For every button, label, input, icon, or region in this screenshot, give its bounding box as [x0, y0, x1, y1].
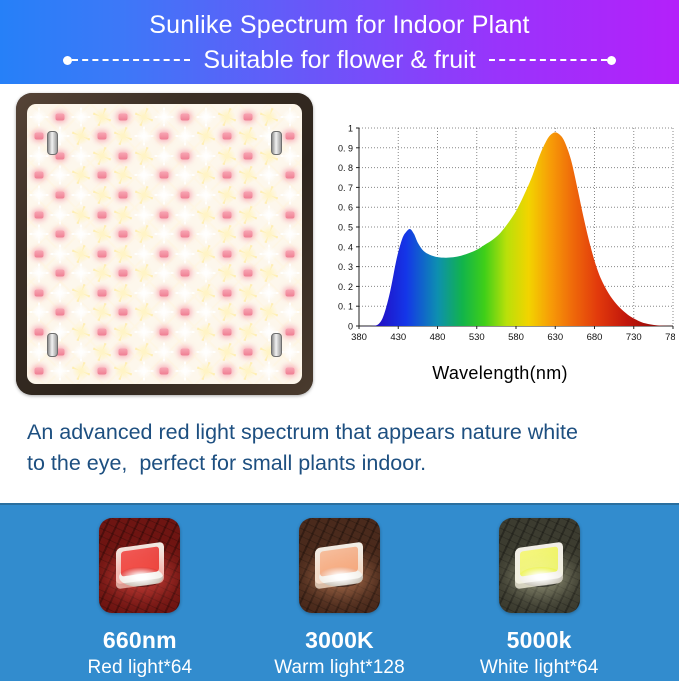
led-diode-warm	[217, 224, 238, 244]
led-diode-red	[175, 303, 196, 323]
led-diode-red	[217, 166, 238, 186]
led-diode-warm	[237, 205, 258, 225]
led-diode-white	[258, 361, 279, 381]
led-diode-warm	[112, 205, 133, 225]
led-diode-white	[71, 107, 92, 127]
y-tick-label: 0. 6	[338, 203, 353, 213]
led-diode-red	[92, 166, 113, 186]
led-diode-warm	[133, 342, 154, 362]
led-chip-white-icon	[499, 518, 580, 613]
led-diode-warm	[71, 283, 92, 303]
led-chip-list: 660nm Red light*64 3000K Warm light*128	[0, 518, 679, 678]
bullet-dot-left-icon	[63, 56, 72, 65]
led-diode-warm	[237, 127, 258, 147]
led-diode-white	[133, 361, 154, 381]
led-diode-red	[154, 166, 175, 186]
led-diode-warm	[217, 107, 238, 127]
led-diode-warm	[71, 361, 92, 381]
led-diode-red	[92, 127, 113, 147]
led-diode-warm	[237, 322, 258, 342]
led-chip-warm-icon	[299, 518, 380, 613]
led-chip-item-warm: 3000K Warm light*128	[254, 518, 424, 679]
led-diode-red	[50, 264, 71, 284]
led-spec-band: 660nm Red light*64 3000K Warm light*128	[0, 503, 679, 681]
led-diode-white	[29, 224, 50, 244]
led-chip-subtitle: Warm light*128	[254, 657, 424, 679]
led-diode-warm	[71, 127, 92, 147]
led-diode-warm	[217, 264, 238, 284]
led-diode-warm	[92, 107, 113, 127]
led-diode-white	[279, 342, 300, 362]
led-diode-red	[112, 342, 133, 362]
product-infographic: Sunlike Spectrum for Indoor Plant Suitab…	[0, 0, 679, 679]
led-diode-red	[92, 205, 113, 225]
led-diode-red	[175, 224, 196, 244]
led-diode-warm	[112, 361, 133, 381]
led-diode-white	[175, 205, 196, 225]
led-diode-white	[279, 185, 300, 205]
led-diode-white	[175, 361, 196, 381]
dashed-line-left-icon	[72, 59, 190, 61]
led-chip-subtitle: White light*64	[454, 657, 624, 679]
product-description: An advanced red light spectrum that appe…	[27, 417, 652, 479]
led-diode-red	[112, 146, 133, 166]
led-diode-red	[279, 244, 300, 264]
led-diode-red	[92, 322, 113, 342]
led-chip-title: 3000K	[254, 627, 424, 654]
led-diode-red	[237, 224, 258, 244]
led-diode-warm	[258, 224, 279, 244]
led-diode-warm	[71, 322, 92, 342]
led-diode-red	[237, 303, 258, 323]
led-diode-red	[50, 224, 71, 244]
led-diode-warm	[112, 166, 133, 186]
mounting-screw-top-right-icon	[271, 131, 282, 155]
led-diode-warm	[196, 283, 217, 303]
x-axis-label: Wavelength(nm)	[325, 363, 675, 384]
led-diode-red	[92, 244, 113, 264]
led-chip-title: 660nm	[55, 627, 225, 654]
led-diode-red	[175, 342, 196, 362]
led-diode-warm	[133, 264, 154, 284]
led-diode-red	[112, 107, 133, 127]
led-diode-red	[237, 107, 258, 127]
led-diode-warm	[112, 127, 133, 147]
led-diode-white	[71, 224, 92, 244]
led-diode-warm	[217, 303, 238, 323]
page-title: Sunlike Spectrum for Indoor Plant	[0, 11, 679, 40]
led-diode-red	[29, 283, 50, 303]
y-tick-label: 0. 4	[338, 242, 353, 252]
led-diode-warm	[92, 146, 113, 166]
led-diode-red	[29, 361, 50, 381]
y-tick-label: 0. 2	[338, 282, 353, 292]
led-chip-item-red: 660nm Red light*64	[55, 518, 225, 679]
led-diode-red	[217, 283, 238, 303]
led-diode-red	[154, 244, 175, 264]
led-diode-warm	[133, 107, 154, 127]
led-diode-white	[175, 244, 196, 264]
led-diode-white	[133, 127, 154, 147]
led-diode-warm	[92, 264, 113, 284]
led-diode-white	[71, 303, 92, 323]
led-diode-white	[133, 322, 154, 342]
led-diode-white	[258, 244, 279, 264]
y-tick-label: 0. 9	[338, 143, 353, 153]
led-diode-white	[196, 107, 217, 127]
led-diode-red	[112, 303, 133, 323]
y-tick-label: 1	[348, 124, 353, 134]
x-tick-label: 730	[626, 332, 642, 343]
y-tick-label: 0	[348, 322, 353, 332]
x-tick-label: 580	[508, 332, 524, 343]
led-diode-red	[217, 127, 238, 147]
led-diode-white	[71, 146, 92, 166]
bullet-dot-right-icon	[607, 56, 616, 65]
led-diode-red	[112, 224, 133, 244]
led-chip-title: 5000k	[454, 627, 624, 654]
led-diode-white	[50, 283, 71, 303]
led-diode-white	[279, 146, 300, 166]
led-diode-white	[29, 303, 50, 323]
led-diode-red	[217, 244, 238, 264]
led-diode-white	[258, 205, 279, 225]
x-tick-label: 680	[587, 332, 603, 343]
dashed-line-right-icon	[489, 59, 607, 61]
led-diode-red	[217, 205, 238, 225]
led-diode-red	[175, 264, 196, 284]
led-diode-white	[279, 107, 300, 127]
led-diode-red	[50, 107, 71, 127]
led-diode-white	[154, 264, 175, 284]
led-diode-warm	[71, 244, 92, 264]
spectrum-chart: 00. 10. 20. 30. 40. 50. 60. 70. 80. 91 3…	[325, 118, 675, 398]
led-grid	[27, 104, 302, 384]
led-diode-red	[154, 283, 175, 303]
panel-face	[27, 104, 302, 384]
led-flare	[319, 567, 363, 587]
led-diode-red	[237, 146, 258, 166]
led-diode-red	[29, 244, 50, 264]
mounting-screw-bottom-right-icon	[271, 333, 282, 357]
led-diode-red	[92, 361, 113, 381]
mounting-screw-bottom-left-icon	[47, 333, 58, 357]
led-diode-warm	[258, 303, 279, 323]
description-line-2: to the eye, perfect for small plants ind…	[27, 448, 652, 479]
led-diode-red	[175, 107, 196, 127]
led-diode-white	[50, 166, 71, 186]
led-diode-warm	[237, 361, 258, 381]
led-diode-warm	[133, 224, 154, 244]
led-diode-red	[279, 283, 300, 303]
mounting-screw-top-left-icon	[47, 131, 58, 155]
led-diode-white	[154, 342, 175, 362]
led-diode-red	[237, 342, 258, 362]
led-diode-warm	[258, 185, 279, 205]
led-diode-warm	[92, 342, 113, 362]
led-diode-warm	[112, 283, 133, 303]
right-dash-decoration	[489, 56, 616, 65]
led-diode-white	[175, 127, 196, 147]
led-diode-white	[133, 166, 154, 186]
led-diode-warm	[112, 322, 133, 342]
led-diode-white	[133, 244, 154, 264]
led-diode-red	[217, 322, 238, 342]
led-diode-white	[175, 283, 196, 303]
led-diode-warm	[112, 244, 133, 264]
led-flare	[119, 567, 163, 587]
led-diode-white	[154, 224, 175, 244]
led-panel-photo	[16, 93, 313, 395]
led-diode-white	[175, 166, 196, 186]
led-diode-red	[154, 322, 175, 342]
led-diode-white	[133, 205, 154, 225]
x-tick-label: 780	[665, 332, 675, 343]
led-diode-warm	[71, 166, 92, 186]
y-tick-label: 0. 7	[338, 183, 353, 193]
led-diode-warm	[92, 303, 113, 323]
led-diode-red	[175, 146, 196, 166]
left-dash-decoration	[63, 56, 190, 65]
led-diode-white	[279, 224, 300, 244]
x-tick-label: 630	[547, 332, 563, 343]
led-diode-red	[112, 185, 133, 205]
led-diode-red	[279, 205, 300, 225]
led-diode-warm	[196, 127, 217, 147]
header-banner: Sunlike Spectrum for Indoor Plant Suitab…	[0, 0, 679, 84]
led-diode-warm	[133, 185, 154, 205]
led-diode-red	[279, 166, 300, 186]
y-tick-label: 0. 3	[338, 262, 353, 272]
led-diode-red	[237, 185, 258, 205]
led-diode-red	[154, 127, 175, 147]
led-diode-white	[50, 244, 71, 264]
led-diode-warm	[196, 205, 217, 225]
led-diode-red	[175, 185, 196, 205]
led-diode-warm	[217, 185, 238, 205]
y-axis-tick-labels: 00. 10. 20. 30. 40. 50. 60. 70. 80. 91	[338, 124, 353, 332]
led-chip-item-white: 5000k White light*64	[454, 518, 624, 679]
led-diode-white	[71, 185, 92, 205]
led-diode-warm	[133, 303, 154, 323]
led-diode-warm	[258, 107, 279, 127]
led-diode-red	[154, 205, 175, 225]
led-diode-red	[279, 361, 300, 381]
led-chip-red-icon	[99, 518, 180, 613]
led-diode-white	[154, 185, 175, 205]
led-diode-warm	[217, 146, 238, 166]
led-diode-warm	[196, 244, 217, 264]
led-diode-warm	[92, 224, 113, 244]
led-diode-warm	[92, 185, 113, 205]
led-diode-white	[50, 361, 71, 381]
x-axis-tick-labels: 380430480530580630680730780	[351, 332, 675, 343]
led-diode-white	[279, 303, 300, 323]
led-diode-warm	[258, 264, 279, 284]
led-diode-warm	[133, 146, 154, 166]
led-flare	[519, 567, 563, 587]
led-diode-red	[29, 166, 50, 186]
led-diode-white	[154, 107, 175, 127]
led-diode-warm	[217, 342, 238, 362]
header-subtitle-row: Suitable for flower & fruit	[0, 43, 679, 77]
led-diode-red	[29, 205, 50, 225]
led-diode-warm	[71, 205, 92, 225]
led-diode-red	[92, 283, 113, 303]
led-diode-red	[237, 264, 258, 284]
led-diode-warm	[196, 322, 217, 342]
led-diode-white	[279, 264, 300, 284]
led-diode-white	[133, 283, 154, 303]
y-tick-label: 0. 8	[338, 163, 353, 173]
led-diode-warm	[237, 283, 258, 303]
led-diode-white	[258, 283, 279, 303]
led-diode-white	[196, 185, 217, 205]
led-diode-white	[29, 264, 50, 284]
led-diode-white	[71, 264, 92, 284]
led-diode-warm	[196, 361, 217, 381]
led-diode-red	[50, 303, 71, 323]
led-diode-white	[196, 342, 217, 362]
led-diode-white	[50, 205, 71, 225]
led-chip-subtitle: Red light*64	[55, 657, 225, 679]
led-diode-red	[279, 127, 300, 147]
led-diode-warm	[196, 166, 217, 186]
led-diode-white	[29, 107, 50, 127]
led-diode-warm	[237, 244, 258, 264]
led-diode-white	[196, 224, 217, 244]
led-diode-white	[196, 303, 217, 323]
y-tick-label: 0. 1	[338, 302, 353, 312]
led-diode-white	[175, 322, 196, 342]
header-subtitle: Suitable for flower & fruit	[190, 46, 488, 75]
led-diode-white	[258, 166, 279, 186]
led-diode-white	[154, 146, 175, 166]
led-diode-white	[29, 185, 50, 205]
led-diode-red	[154, 361, 175, 381]
led-diode-red	[50, 185, 71, 205]
led-diode-white	[196, 264, 217, 284]
led-diode-red	[279, 322, 300, 342]
led-diode-white	[154, 303, 175, 323]
description-line-1: An advanced red light spectrum that appe…	[27, 417, 652, 448]
led-diode-warm	[237, 166, 258, 186]
led-diode-red	[217, 361, 238, 381]
spectral-power-distribution-plot: 00. 10. 20. 30. 40. 50. 60. 70. 80. 91 3…	[325, 118, 675, 358]
x-tick-label: 380	[351, 332, 367, 343]
x-tick-label: 430	[390, 332, 406, 343]
led-diode-white	[71, 342, 92, 362]
led-diode-red	[112, 264, 133, 284]
x-tick-label: 480	[430, 332, 446, 343]
led-diode-white	[196, 146, 217, 166]
x-tick-label: 530	[469, 332, 485, 343]
y-tick-label: 0. 5	[338, 223, 353, 233]
